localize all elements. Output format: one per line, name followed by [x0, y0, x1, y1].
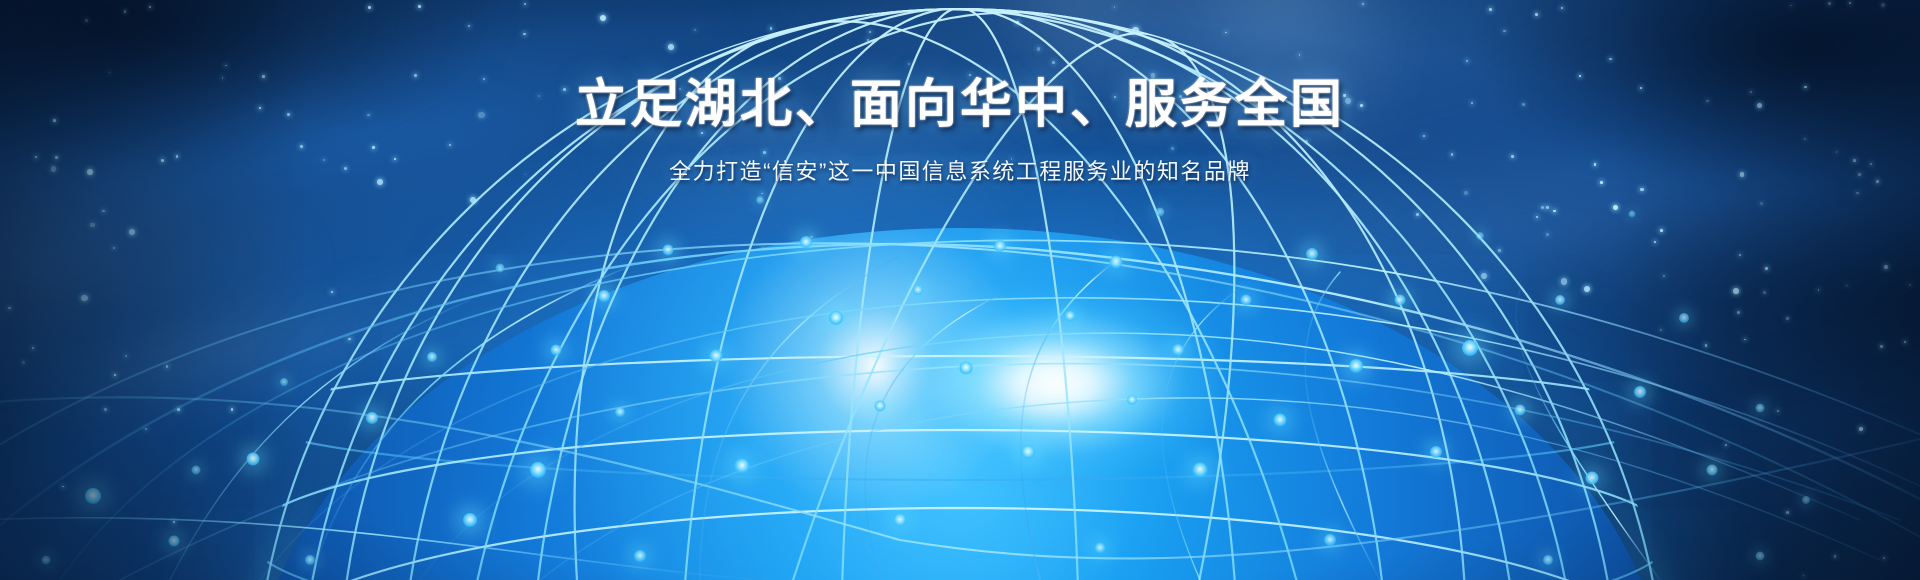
hero-banner: 立足湖北、面向华中、服务全国 全力打造“信安”这一中国信息系统工程服务业的知名品…: [0, 0, 1920, 580]
banner-copy: 立足湖北、面向华中、服务全国 全力打造“信安”这一中国信息系统工程服务业的知名品…: [0, 78, 1920, 185]
page-title: 立足湖北、面向华中、服务全国: [0, 78, 1920, 133]
page-subtitle: 全力打造“信安”这一中国信息系统工程服务业的知名品牌: [0, 159, 1920, 185]
